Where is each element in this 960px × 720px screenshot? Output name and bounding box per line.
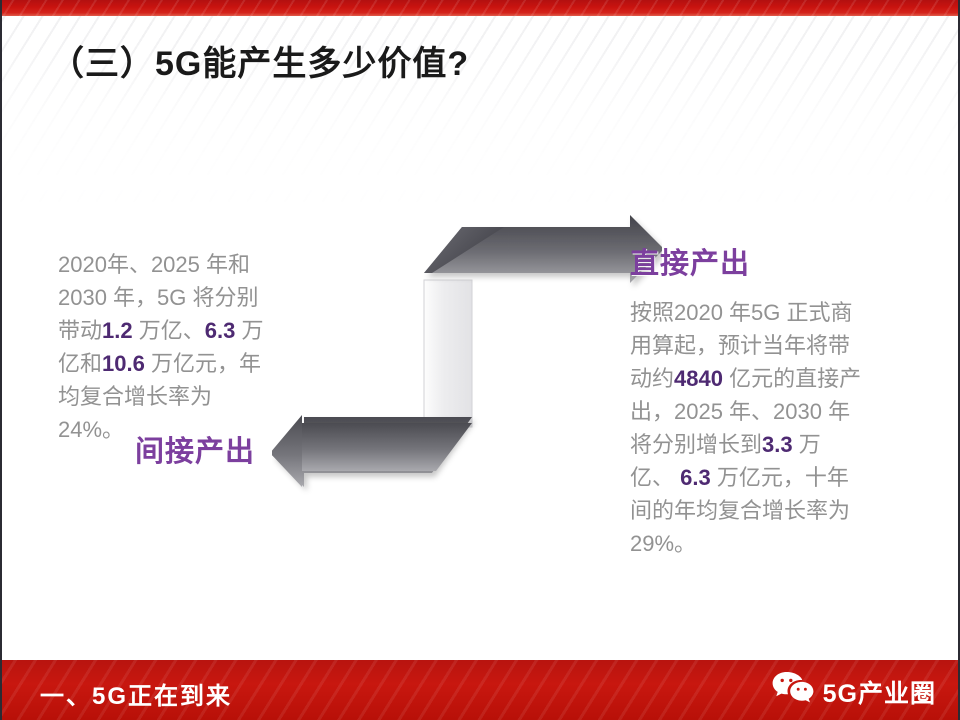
top-band-stripe-texture [2, 0, 960, 16]
paragraph-segments-left: 2020年、2025 年和2030 年，5G 将分别带动1.2 万亿、6.3 万… [58, 252, 263, 442]
paragraph-segments-right: 按照2020 年5G 正式商用算起，预计当年将带动约4840 亿元的直接产出，2… [630, 300, 861, 556]
text-run: 万亿、 [133, 318, 205, 343]
accent-value: 10.6 [102, 351, 145, 376]
accent-value: 3.3 [762, 432, 793, 457]
accent-value: 4840 [674, 366, 723, 391]
accent-value: 6.3 [205, 318, 236, 343]
arrow-pointing-left-body [272, 415, 472, 487]
indirect-output-heading: 间接产出 [135, 428, 255, 470]
top-red-band [2, 0, 960, 16]
direct-output-paragraph: 按照2020 年5G 正式商用算起，预计当年将带动约4840 亿元的直接产出，2… [630, 296, 862, 560]
slide-canvas: （三）5G能产生多少价值? [0, 0, 960, 720]
arrow-vertical-connector [424, 280, 472, 427]
footer-section-label: 一、5G正在到来 [40, 676, 232, 711]
footer-bar: 一、5G正在到来 5G产业圈 [2, 660, 960, 720]
page-title: （三）5G能产生多少价值? [50, 36, 469, 85]
accent-value: 1.2 [102, 318, 133, 343]
z-shaped-double-arrow-diagram [272, 205, 662, 495]
brand-watermark: 5G产业圈 [771, 670, 936, 713]
wechat-icon [771, 670, 815, 713]
accent-value: 6.3 [680, 465, 711, 490]
brand-name: 5G产业圈 [823, 674, 936, 710]
indirect-output-paragraph: 2020年、2025 年和2030 年，5G 将分别带动1.2 万亿、6.3 万… [58, 248, 273, 446]
direct-output-heading: 直接产出 [630, 240, 750, 282]
